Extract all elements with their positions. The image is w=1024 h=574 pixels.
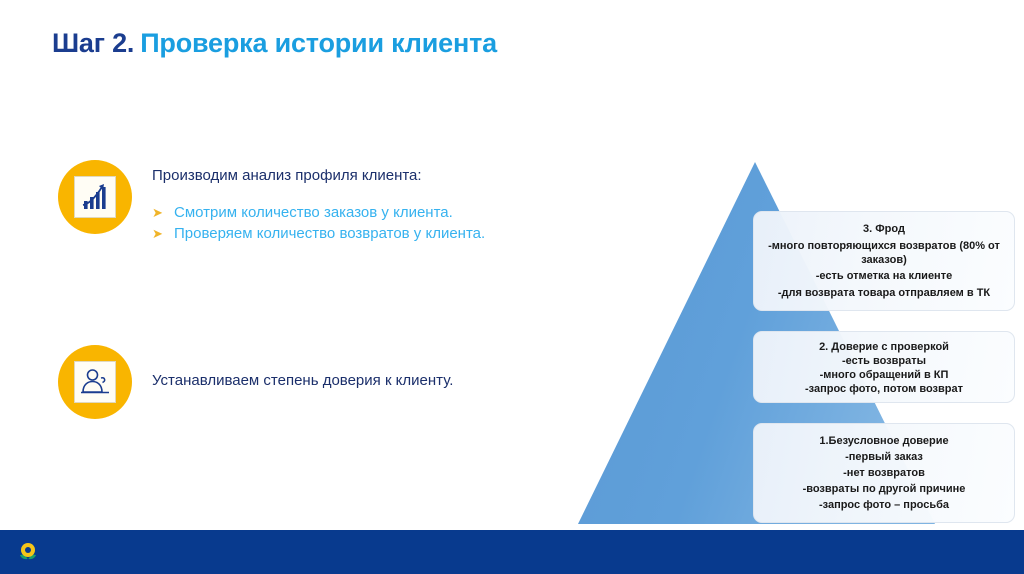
list-item: ➤ Проверяем количество возвратов у клиен…: [152, 223, 582, 244]
pyramid-level-line: -много обращений в КП: [766, 368, 1002, 382]
pyramid-level-line: -первый заказ: [766, 450, 1002, 464]
analysis-lead-text: Производим анализ профиля клиента:: [152, 166, 582, 186]
presenter-person-icon-frame: [74, 361, 116, 403]
bullet-text: Проверяем количество возвратов у клиента…: [174, 223, 485, 244]
pyramid-level-fraud: 3. Фрод -много повторяющихся возвратов (…: [753, 211, 1015, 311]
pyramid-level-line: -для возврата товара отправляем в ТК: [766, 286, 1002, 300]
growth-chart-icon: [58, 160, 132, 234]
pyramid-level-line: -есть отметка на клиенте: [766, 269, 1002, 283]
flower-ring-logo: [14, 538, 42, 566]
trust-lead-text: Устанавливаем степень доверия к клиенту.: [152, 371, 582, 391]
pyramid-level-line: -есть возвраты: [766, 354, 1002, 368]
pyramid-level-line: -много повторяющихся возвратов (80% от з…: [766, 239, 1002, 267]
pyramid-level-line: -возвраты по другой причине: [766, 482, 1002, 496]
analysis-text-column: Производим анализ профиля клиента: ➤ Смо…: [152, 160, 582, 244]
pyramid-level-trust-unconditional: 1.Безусловное доверие -первый заказ -нет…: [753, 423, 1015, 523]
page-title: Шаг 2.Проверка истории клиента: [52, 28, 497, 59]
bullet-arrow-icon: ➤: [152, 223, 174, 244]
bullet-arrow-icon: ➤: [152, 202, 174, 223]
slide-canvas: Шаг 2.Проверка истории клиента Производи…: [0, 0, 1024, 574]
list-item: ➤ Смотрим количество заказов у клиента.: [152, 202, 582, 223]
pyramid-level-title: 1.Безусловное доверие: [766, 434, 1002, 448]
presenter-person-icon: [58, 345, 132, 419]
analysis-bullet-list: ➤ Смотрим количество заказов у клиента. …: [152, 202, 582, 244]
pyramid-level-title: 2. Доверие с проверкой: [766, 340, 1002, 354]
footer-bar: [0, 530, 1024, 574]
title-step: Шаг 2.: [52, 28, 134, 58]
pyramid-level-line: -запрос фото – просьба: [766, 498, 1002, 512]
growth-chart-icon-frame: [74, 176, 116, 218]
pyramid-level-line: -запрос фото, потом возврат: [766, 382, 1002, 396]
pyramid-level-title: 3. Фрод: [766, 222, 1002, 236]
pyramid-level-line: -нет возвратов: [766, 466, 1002, 480]
trust-text-column: Устанавливаем степень доверия к клиенту.: [152, 345, 582, 406]
bullet-text: Смотрим количество заказов у клиента.: [174, 202, 453, 223]
title-rest: Проверка истории клиента: [140, 28, 497, 58]
pyramid-level-trust-checked: 2. Доверие с проверкой -есть возвраты -м…: [753, 331, 1015, 403]
